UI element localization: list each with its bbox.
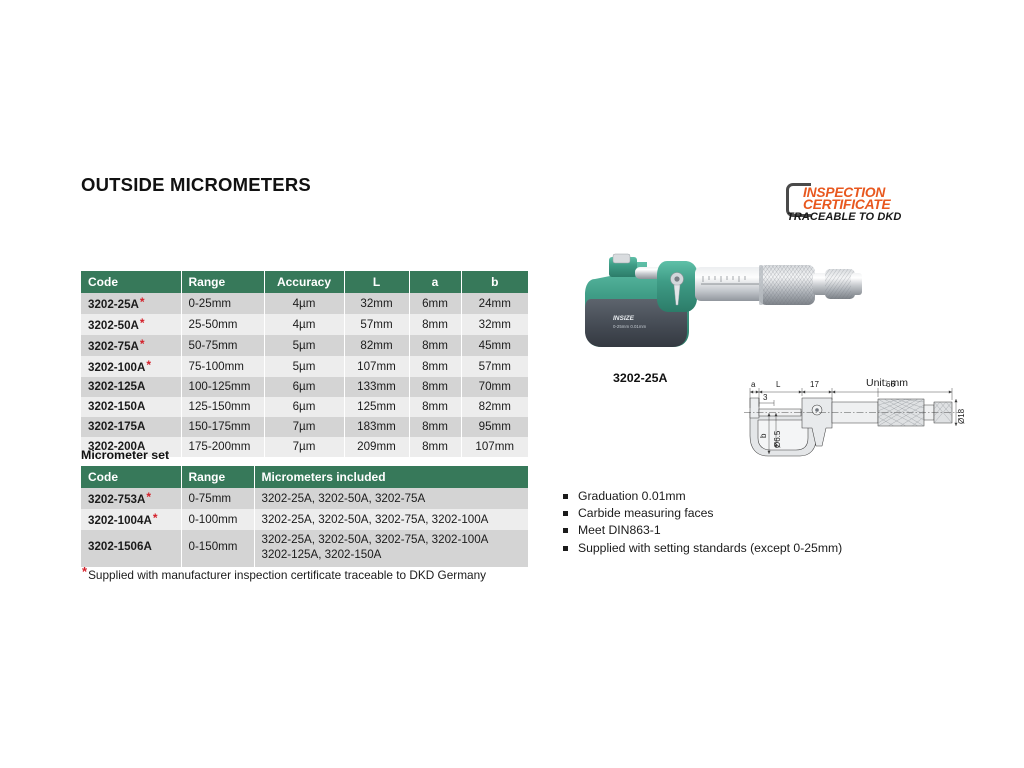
cell-accuracy: 5µm [264,356,344,377]
dim-label-dia-thimble: Ø18 [957,408,966,424]
column-header-set-range: Range [181,466,254,488]
table-row: 3202-753A*0-75mm3202-25A, 3202-50A, 3202… [81,488,528,509]
footnote: *Supplied with manufacturer inspection c… [81,564,486,582]
feature-item: Graduation 0.01mm [563,489,842,503]
cell-l: 125mm [344,397,409,417]
dim-label-3: 3 [763,393,768,402]
footnote-text: Supplied with manufacturer inspection ce… [88,568,486,582]
code-text: 3202-25A [88,298,139,311]
cell-accuracy: 6µm [264,377,344,397]
dim-label-dia-spindle: Ø6.5 [773,430,782,448]
cell-code: 3202-1506A [81,530,181,567]
column-header-l: L [344,271,409,293]
code-text: 3202-125A [88,380,145,393]
cell-b: 45mm [461,335,528,356]
code-text: 3202-175A [88,420,145,433]
code-text: 3202-50A [88,319,139,332]
dim-label-a: a [751,380,756,389]
micrometer-product-photo: INSIZE 0-25mm 0.01mm [573,243,873,365]
cell-a: 8mm [409,335,461,356]
feature-label: Graduation 0.01mm [578,489,686,503]
cell-b: 95mm [461,417,528,437]
cell-a: 8mm [409,377,461,397]
column-header-code: Code [81,271,181,293]
square-bullet-icon [563,511,568,516]
cell-accuracy: 4µm [264,293,344,314]
column-header-a: a [409,271,461,293]
cell-l: 57mm [344,314,409,335]
included-line: 3202-25A, 3202-50A, 3202-75A, 3202-100A [262,513,529,526]
cell-range: 0-150mm [181,530,254,567]
cell-code: 3202-125A [81,377,181,397]
column-header-accuracy: Accuracy [264,271,344,293]
cell-b: 70mm [461,377,528,397]
cell-range: 0-25mm [181,293,264,314]
table-row: 3202-75A*50-75mm5µm82mm8mm45mm [81,335,528,356]
table-header-row: Code Range Accuracy L a b [81,271,528,293]
dim-label-17: 17 [810,380,819,389]
cell-l: 32mm [344,293,409,314]
anvil-face [613,254,630,263]
table-row: 3202-100A*75-100mm5µm107mm8mm57mm [81,356,528,377]
code-text: 3202-100A [88,361,145,374]
included-line: 3202-25A, 3202-50A, 3202-75A, 3202-100A [262,533,529,548]
certificate-line-certificate: CERTIFICATE [803,197,891,212]
code-text: 3202-1004A [88,514,152,527]
page-title: OUTSIDE MICROMETERS [81,174,311,196]
cell-b: 24mm [461,293,528,314]
cell-code: 3202-75A* [81,335,181,356]
certificate-star: * [145,490,151,504]
table-row: 3202-175A150-175mm7µm183mm8mm95mm [81,417,528,437]
cell-micrometers-included: 3202-25A, 3202-50A, 3202-75A, 3202-100A [254,509,528,530]
footnote-star: * [81,564,88,579]
cell-range: 125-150mm [181,397,264,417]
certificate-star: * [139,337,145,351]
certificate-line-traceable: TRACEABLE TO DKD [787,211,901,223]
feature-item: Supplied with setting standards (except … [563,541,842,555]
square-bullet-icon [563,546,568,551]
cell-range: 25-50mm [181,314,264,335]
cell-a: 6mm [409,293,461,314]
cell-code: 3202-100A* [81,356,181,377]
feature-list: Graduation 0.01mmCarbide measuring faces… [563,489,842,558]
cell-range: 150-175mm [181,417,264,437]
table-row: 3202-25A*0-25mm4µm32mm6mm24mm [81,293,528,314]
cell-accuracy: 7µm [264,437,344,457]
cell-accuracy: 4µm [264,314,344,335]
cell-accuracy: 7µm [264,417,344,437]
outside-micrometers-table: Code Range Accuracy L a b 3202-25A*0-25m… [81,271,528,457]
feature-label: Supplied with setting standards (except … [578,541,842,555]
inspection-certificate-logo: INSPECTION CERTIFICATE TRACEABLE TO DKD [786,182,958,226]
cell-b: 57mm [461,356,528,377]
square-bullet-icon [563,528,568,533]
cell-l: 82mm [344,335,409,356]
micrometer-technical-drawing: a L 17 66 3 b Ø6.5 Ø18 [736,376,968,464]
cell-a: 8mm [409,314,461,335]
cell-a: 8mm [409,417,461,437]
dim-label-b: b [759,433,768,438]
micrometer-set-title: Micrometer set [81,448,169,462]
feature-item: Carbide measuring faces [563,506,842,520]
cell-accuracy: 5µm [264,335,344,356]
feature-item: Meet DIN863-1 [563,523,842,537]
brand-text: INSIZE [613,315,635,322]
dim-label-66: 66 [886,380,895,389]
table-row: 3202-50A*25-50mm4µm57mm8mm32mm [81,314,528,335]
certificate-star: * [152,511,158,525]
cell-range: 175-200mm [181,437,264,457]
table-row: 3202-1506A0-150mm3202-25A, 3202-50A, 320… [81,530,528,567]
cell-range: 0-75mm [181,488,254,509]
column-header-range: Range [181,271,264,293]
feature-label: Carbide measuring faces [578,506,714,520]
scale-range-text: 0-25mm 0.01mm [613,324,647,329]
cell-range: 50-75mm [181,335,264,356]
cell-b: 32mm [461,314,528,335]
table-row: 3202-125A100-125mm6µm133mm8mm70mm [81,377,528,397]
included-line: 3202-25A, 3202-50A, 3202-75A [262,492,529,505]
cell-l: 133mm [344,377,409,397]
product-caption: 3202-25A [613,371,667,385]
column-header-set-code: Code [81,466,181,488]
cell-code: 3202-175A [81,417,181,437]
cell-code: 3202-50A* [81,314,181,335]
code-text: 3202-150A [88,400,145,413]
micrometer-set-table: Code Range Micrometers included 3202-753… [81,466,528,567]
cell-micrometers-included: 3202-25A, 3202-50A, 3202-75A, 3202-100A3… [254,530,528,567]
cell-micrometers-included: 3202-25A, 3202-50A, 3202-75A [254,488,528,509]
cell-b: 107mm [461,437,528,457]
cell-a: 8mm [409,356,461,377]
code-text: 3202-1506A [88,540,152,553]
cell-l: 183mm [344,417,409,437]
code-text: 3202-753A [88,493,145,506]
cell-code: 3202-753A* [81,488,181,509]
table-row: 3202-1004A*0-100mm3202-25A, 3202-50A, 32… [81,509,528,530]
certificate-star: * [139,295,145,309]
cell-a: 8mm [409,437,461,457]
dim-label-L: L [776,380,781,389]
feature-label: Meet DIN863-1 [578,523,661,537]
column-header-micrometers-included: Micrometers included [254,466,528,488]
code-text: 3202-75A [88,340,139,353]
table-row: 3202-150A125-150mm6µm125mm8mm82mm [81,397,528,417]
cell-l: 107mm [344,356,409,377]
cell-range: 100-125mm [181,377,264,397]
cell-code: 3202-1004A* [81,509,181,530]
cell-b: 82mm [461,397,528,417]
included-line: 3202-125A, 3202-150A [262,548,529,563]
cell-range: 0-100mm [181,509,254,530]
cell-l: 209mm [344,437,409,457]
cell-range: 75-100mm [181,356,264,377]
square-bullet-icon [563,494,568,499]
certificate-star: * [145,358,151,372]
cell-code: 3202-25A* [81,293,181,314]
column-header-b: b [461,271,528,293]
cell-accuracy: 6µm [264,397,344,417]
cell-code: 3202-150A [81,397,181,417]
certificate-star: * [139,316,145,330]
set-table-header-row: Code Range Micrometers included [81,466,528,488]
cell-a: 8mm [409,397,461,417]
